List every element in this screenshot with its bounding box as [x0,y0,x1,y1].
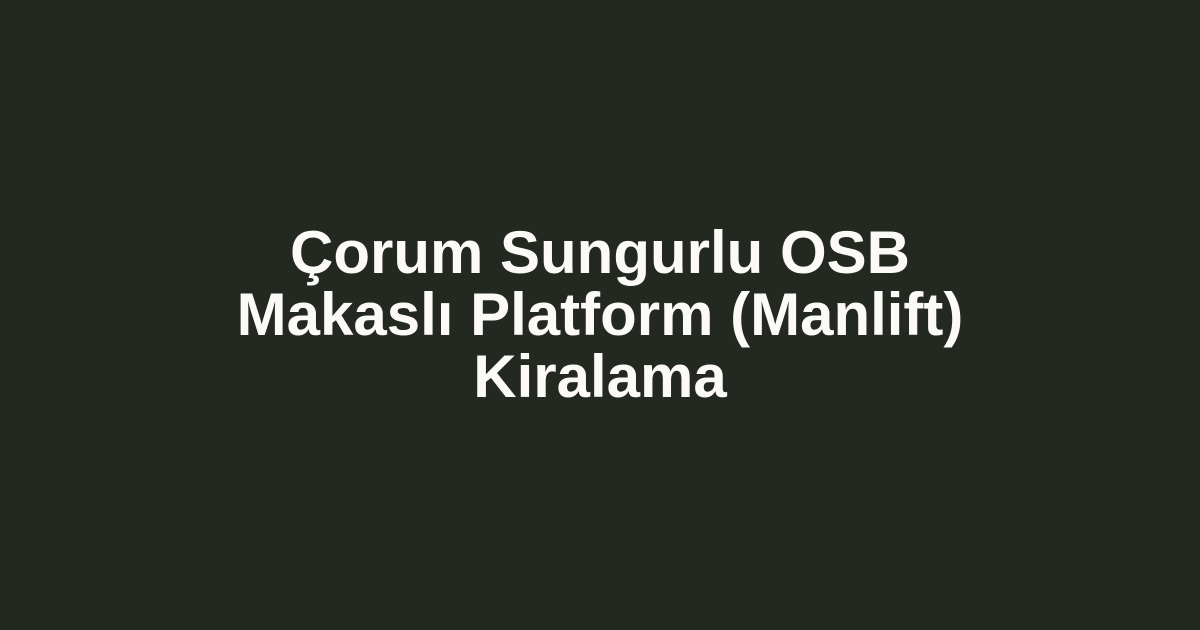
card-content-area: Çorum Sungurlu OSB Makaslı Platform (Man… [0,222,1200,408]
page-title: Çorum Sungurlu OSB Makaslı Platform (Man… [200,222,1000,408]
og-preview-card: Çorum Sungurlu OSB Makaslı Platform (Man… [0,0,1200,630]
